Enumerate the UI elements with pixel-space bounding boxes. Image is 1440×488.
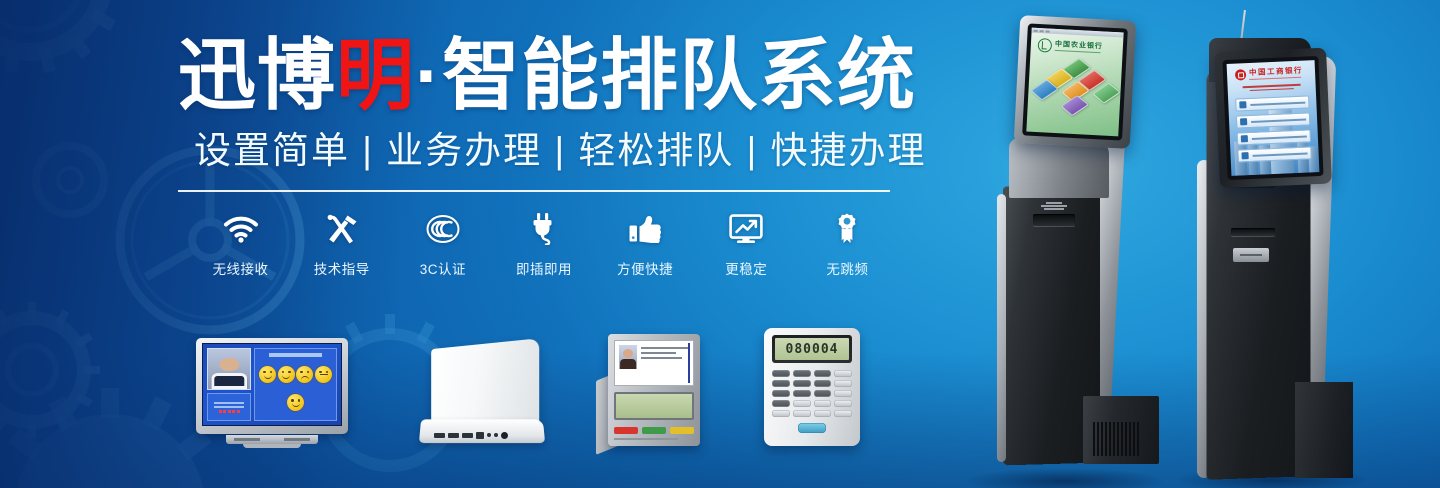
feature-label: 更稳定 <box>696 258 797 278</box>
title-suffix: ·智能排队系统 <box>415 31 916 119</box>
service-menu <box>1228 95 1319 163</box>
ticket-kiosk-left: 中国农业银行 <box>975 18 1165 488</box>
feature-list: 无线接收 技术指导 <box>190 209 898 278</box>
promo-banner: 迅博明·智能排队系统 设置简单 | 业务办理 | 轻松排队 | 快捷办理 无 <box>0 0 1440 488</box>
printer-logo-plate <box>1233 248 1269 262</box>
headline-block: 迅博明·智能排队系统 设置简单 | 业务办理 | 轻松排队 | 快捷办理 无 <box>178 36 898 278</box>
abc-bank-logo-icon <box>1038 38 1053 53</box>
product-calling-keypad: 080004 <box>764 328 860 448</box>
welcome-text <box>1228 81 1316 94</box>
title-highlight: 明 <box>336 31 415 119</box>
ticket-dispense-slot[interactable] <box>1033 214 1075 226</box>
keypad-key[interactable] <box>772 380 790 387</box>
tools-hammer-wrench-icon <box>291 209 392 249</box>
feature-item-tech-support: 技术指导 <box>291 209 392 278</box>
menu-item[interactable] <box>1236 113 1310 129</box>
monitor-staff-panel <box>207 348 251 421</box>
monitor-bezel <box>196 338 348 434</box>
menu-item[interactable] <box>1235 96 1309 112</box>
keypad-key[interactable] <box>814 390 832 397</box>
evaluator-body <box>608 334 700 446</box>
keypad-display-value: 080004 <box>786 343 839 356</box>
keypad-key[interactable] <box>814 370 832 377</box>
keypad-key[interactable] <box>793 370 811 377</box>
keypad-key[interactable] <box>834 410 852 417</box>
rating-face-happy[interactable] <box>259 366 276 383</box>
product-desktop-evaluator <box>592 332 704 448</box>
kiosk-screen-frame: 中国农业银行 <box>1014 15 1137 149</box>
keypad-key[interactable] <box>793 410 811 417</box>
monitor-trend-chart-icon <box>696 209 797 249</box>
feature-label: 3C认证 <box>392 258 493 278</box>
keypad-call-button[interactable] <box>798 423 826 433</box>
port-serial-2 <box>448 433 459 438</box>
keypad-key[interactable] <box>834 400 852 407</box>
feature-item-ccc: 3C认证 <box>392 209 493 278</box>
title-prefix: 迅博 <box>178 31 336 119</box>
bank-name-group: 中国工商银行 <box>1249 67 1303 80</box>
icbc-bank-logo-icon <box>1235 69 1246 80</box>
keypad-key[interactable] <box>772 410 790 417</box>
keypad-key[interactable] <box>814 410 832 417</box>
evaluator-id-card <box>614 340 694 386</box>
keypad-key[interactable] <box>834 370 852 377</box>
rating-question <box>269 353 321 357</box>
keypad-key[interactable] <box>793 400 811 407</box>
staff-info-lines <box>641 345 689 381</box>
rating-stars <box>219 410 240 413</box>
bank-name: 中国农业银行 <box>1055 41 1103 51</box>
button-satisfied[interactable] <box>642 427 666 434</box>
service-tile-diamond <box>1026 54 1122 137</box>
keypad-key[interactable] <box>814 400 832 407</box>
printer-logo <box>1037 202 1071 210</box>
ticket-dispense-slot[interactable] <box>1231 228 1275 236</box>
evaluator-button-row <box>614 427 694 434</box>
port-small <box>487 433 491 437</box>
keypad-key[interactable] <box>772 370 790 377</box>
kiosk-base-tray <box>1295 382 1353 478</box>
controller-body <box>431 338 539 428</box>
feature-item-wireless: 无线接收 <box>190 209 291 278</box>
staff-nameplate <box>207 393 251 421</box>
monitor-stand <box>226 435 318 444</box>
kiosk-shadow <box>965 468 1165 488</box>
feature-label: 即插即用 <box>493 258 594 278</box>
base-vent-grille <box>1093 422 1139 456</box>
feature-item-no-hopping: 无跳频 <box>797 209 898 278</box>
feature-item-plug-and-play: 即插即用 <box>493 209 594 278</box>
feature-item-convenient: 方便快捷 <box>595 209 696 278</box>
button-average[interactable] <box>670 427 694 434</box>
evaluator-label-strip <box>614 438 678 440</box>
ticket-kiosk-right: 中国工商银行 <box>1185 10 1370 488</box>
port-ethernet <box>476 432 484 439</box>
keypad-button-grid <box>772 370 852 417</box>
kiosk-screen-ui-left[interactable]: 中国农业银行 <box>1026 28 1123 137</box>
feature-label: 方便快捷 <box>595 258 696 278</box>
feature-label: 技术指导 <box>291 258 392 278</box>
rating-face-group <box>258 360 333 417</box>
keypad-lcd-inner: 080004 <box>775 338 849 360</box>
kiosk-left-edge <box>997 194 1006 462</box>
keypad-key[interactable] <box>834 390 852 397</box>
port-serial <box>434 433 445 438</box>
keypad-key[interactable] <box>793 380 811 387</box>
bank-brand-right: 中国工商银行 <box>1227 60 1316 81</box>
port-serial-3 <box>462 433 473 438</box>
ccc-certification-icon <box>392 209 493 249</box>
rating-face-wow[interactable] <box>287 394 304 411</box>
kiosk-screen-ui-right[interactable]: 中国工商银行 <box>1227 60 1320 176</box>
menu-item[interactable] <box>1237 130 1311 146</box>
thumbs-up-icon <box>595 209 696 249</box>
controller-port-row <box>434 431 534 439</box>
power-plug-icon <box>493 209 594 249</box>
subtitle: 设置简单 | 业务办理 | 轻松排队 | 快捷办理 <box>194 130 898 173</box>
keypad-key[interactable] <box>772 400 790 407</box>
feature-item-stability: 更稳定 <box>696 209 797 278</box>
keypad-key[interactable] <box>834 380 852 387</box>
page-title: 迅博明·智能排队系统 <box>178 36 898 116</box>
monitor-rating-panel <box>254 348 337 421</box>
bank-name: 中国工商银行 <box>1249 67 1303 77</box>
feature-label: 无跳频 <box>797 258 898 278</box>
product-queue-controller <box>420 336 544 448</box>
divider <box>178 190 890 192</box>
bank-name-group: 中国农业银行 <box>1055 41 1103 54</box>
rating-face-satisfied[interactable] <box>278 366 295 383</box>
monitor-screen <box>202 343 342 426</box>
service-tile[interactable] <box>1060 95 1088 116</box>
keypad-key[interactable] <box>793 390 811 397</box>
award-medal-icon <box>797 209 898 249</box>
rating-face-neutral[interactable] <box>315 366 332 383</box>
monitor-foot <box>243 444 301 448</box>
kiosk-screen-inner: 中国工商银行 <box>1222 56 1323 180</box>
staff-photo <box>619 345 637 369</box>
wifi-icon <box>190 209 291 249</box>
keypad-key[interactable] <box>772 390 790 397</box>
staff-photo <box>207 348 251 390</box>
product-showcase: 080004 <box>196 318 896 448</box>
product-evaluation-monitor <box>196 338 348 448</box>
keypad-lcd: 080004 <box>772 335 852 363</box>
feature-label: 无线接收 <box>190 258 291 278</box>
keypad-body: 080004 <box>764 328 860 446</box>
button-dissatisfied[interactable] <box>614 427 638 434</box>
kiosk-screen-frame: 中国工商银行 <box>1214 48 1332 189</box>
port-power-jack <box>501 432 508 439</box>
keypad-key[interactable] <box>814 380 832 387</box>
port-small-2 <box>494 433 498 437</box>
evaluator-lcd <box>614 392 694 420</box>
bank-brand-left: 中国农业银行 <box>1031 33 1124 57</box>
rating-face-unhappy[interactable] <box>296 366 313 383</box>
kiosk-screen-inner: 中国农业银行 <box>1022 23 1128 140</box>
